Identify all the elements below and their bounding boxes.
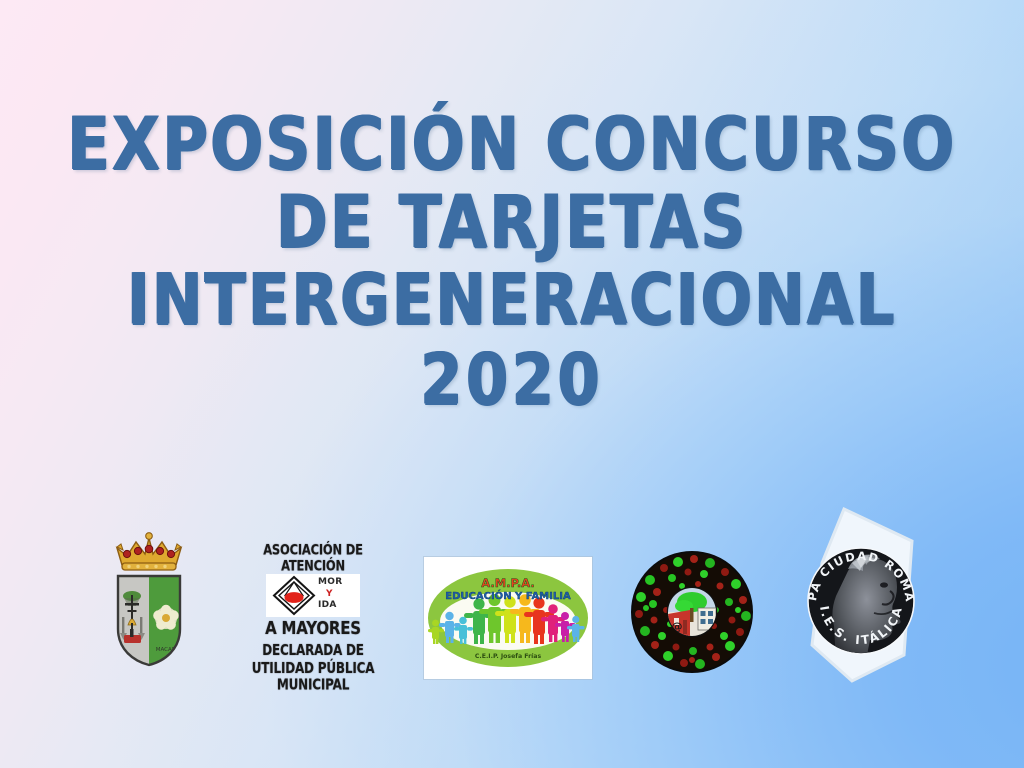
title-line-year: 2020 (0, 340, 1024, 420)
roman-coin-logo-icon: AMPA CIUDAD ROMANA I.E.S. ITÁLICA (800, 505, 922, 685)
ampa-subheading: EDUCACIÓN Y FAMILIA (445, 589, 571, 602)
asociacion-mark-top: MOR (318, 577, 342, 587)
ampa-footer: C.E.I.P. Josefa Frías (475, 652, 542, 660)
ampa-family-illustration: A.M.P.A. EDUCACIÓN Y FAMILIA C.E.I.P. Jo… (424, 557, 592, 679)
asociacion-mark-mid: Y (326, 589, 333, 599)
logo-ampa-josefa-frias: A.M.P.A. EDUCACIÓN Y FAMILIA C.E.I.P. Jo… (424, 557, 592, 679)
asociacion-line-3: A MAYORES (238, 618, 388, 638)
circular-village-emblem-icon: @ (630, 550, 754, 674)
sponsor-logo-strip: MACAEL ASOCIACIÓN DE ATENCIÓN MOR Y IDA … (0, 495, 1024, 705)
diamond-icon (272, 575, 316, 616)
asociacion-mark-icon: MOR Y IDA (266, 574, 360, 617)
presentation-slide: EXPOSICIÓN CONCURSO DE TARJETAS INTERGEN… (0, 0, 1024, 768)
asociacion-mark-bottom: IDA (318, 600, 337, 610)
title-line-1: EXPOSICIÓN CONCURSO (0, 104, 1024, 184)
page-title: EXPOSICIÓN CONCURSO DE TARJETAS INTERGEN… (0, 104, 1024, 408)
logo-coat-of-arms: MACAEL (103, 532, 195, 670)
logo-circular-emblem: @ (630, 550, 754, 674)
crown-icon (113, 532, 185, 574)
title-line-3: INTERGENERACIONAL (0, 260, 1024, 340)
asociacion-line-4: DECLARADA DE (238, 642, 388, 659)
ampa-heading: A.M.P.A. (481, 576, 534, 590)
title-line-2: DE TARJETAS (0, 182, 1024, 262)
logo-ampa-ciudad-romana: AMPA CIUDAD ROMANA I.E.S. ITÁLICA (800, 505, 922, 685)
asociacion-line-5: UTILIDAD PÚBLICA MUNICIPAL (238, 661, 388, 695)
asociacion-line-1: ASOCIACIÓN DE ATENCIÓN (238, 542, 388, 574)
shield-icon: MACAEL (115, 573, 183, 668)
logo-asociacion-atencion-mayores: ASOCIACIÓN DE ATENCIÓN MOR Y IDA A MAYOR… (238, 545, 388, 685)
